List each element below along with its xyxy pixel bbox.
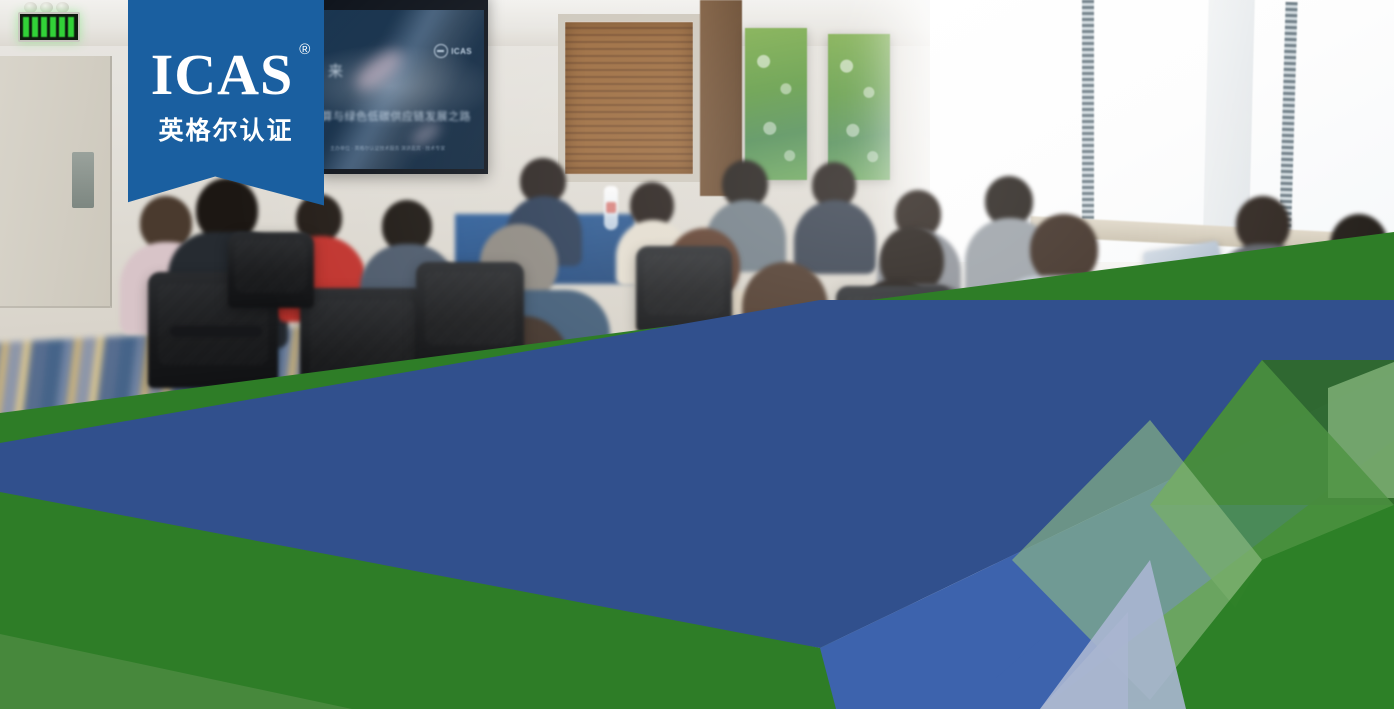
banner-canvas: ICAS 来 核算与绿色低碳供应链发展之路 主办单位 · 英格尔认证技术服务 演…	[0, 0, 1394, 709]
water-bottle	[652, 362, 676, 434]
botanical-artwork-left	[745, 28, 807, 180]
icas-wordmark: ICAS ®	[151, 46, 302, 104]
slide-logo-mark-icon	[434, 44, 448, 58]
slide-footnote: 主办单位 · 英格尔认证技术服务 演讲嘉宾 · 技术专家	[330, 146, 445, 153]
office-chair	[416, 262, 524, 366]
icas-wordmark-text: ICAS	[151, 42, 294, 107]
window-mullion	[1082, 0, 1094, 244]
office-chair	[712, 318, 840, 438]
water-bottle	[604, 186, 618, 230]
office-chair	[636, 246, 732, 332]
office-chair	[556, 354, 706, 492]
slide-watermark-text: ICAS	[451, 47, 472, 56]
door-handle	[72, 152, 94, 208]
emergency-exit-sign-icon	[18, 12, 80, 42]
chair-armrest	[600, 452, 704, 463]
slide-subtitle: 核算与绿色低碳供应链发展之路	[322, 108, 471, 124]
icas-chinese-name: 英格尔认证	[158, 111, 293, 147]
slide-watermark-logo: ICAS	[434, 44, 472, 58]
chair-armrest	[1010, 372, 1102, 383]
room-door	[0, 56, 112, 308]
projection-screen-frame: ICAS 来 核算与绿色低碳供应链发展之路 主办单位 · 英格尔认证技术服务 演…	[318, 0, 488, 174]
window-blinds-frame	[558, 14, 700, 182]
chair-armrest	[170, 326, 262, 337]
projection-screen: ICAS 来 核算与绿色低碳供应链发展之路 主办单位 · 英格尔认证技术服务 演…	[322, 10, 484, 169]
slide-title: 来	[328, 60, 344, 81]
botanical-artwork-right	[828, 34, 890, 180]
office-chair	[228, 232, 314, 308]
registered-trademark-icon: ®	[299, 42, 311, 57]
office-chair	[300, 288, 426, 406]
chair-armrest	[404, 398, 500, 409]
